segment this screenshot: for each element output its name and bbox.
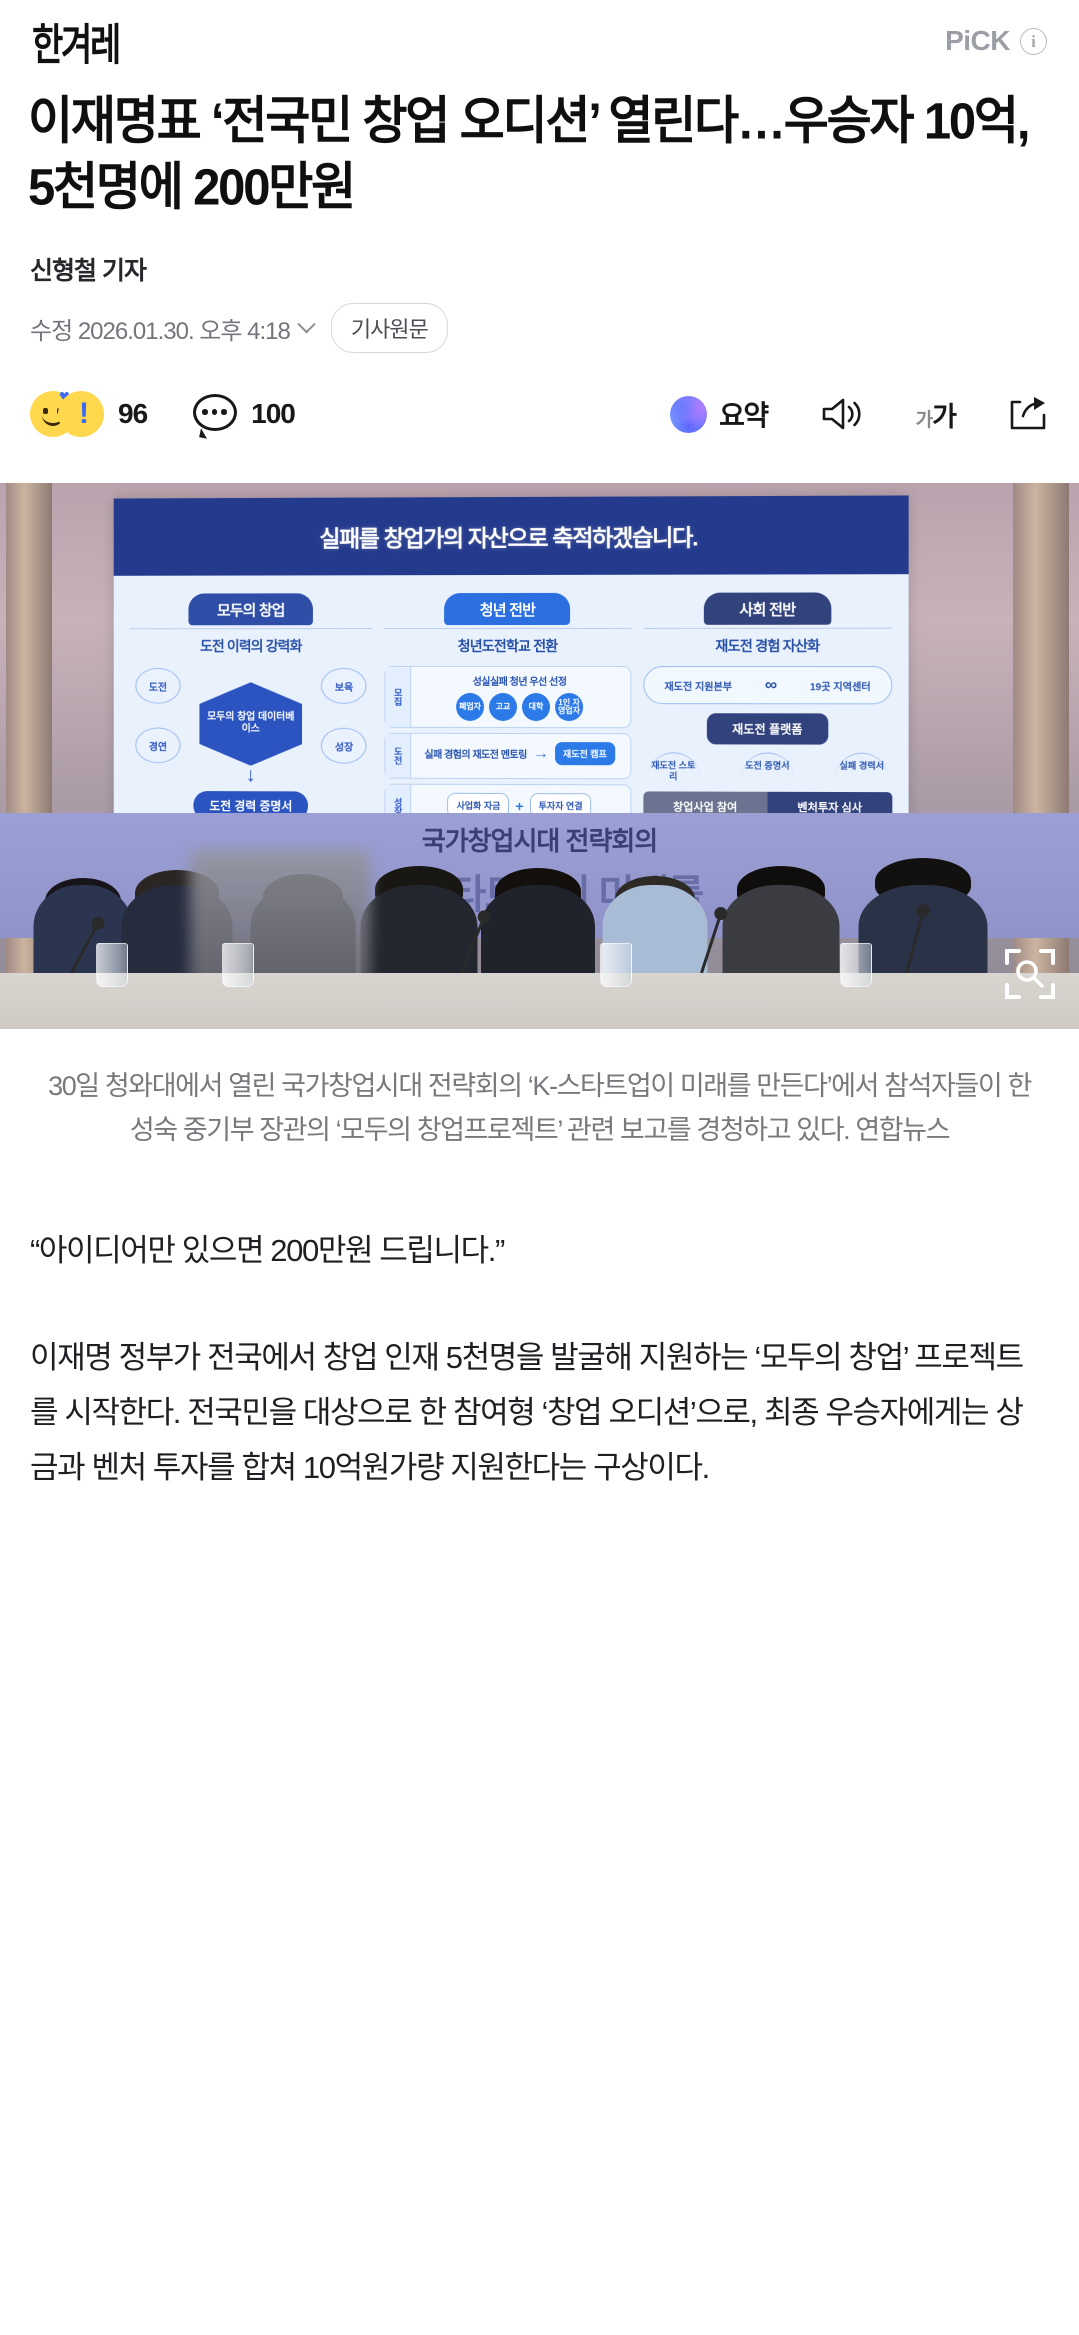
comment-count: 100 bbox=[251, 398, 295, 430]
panel-2-sub: 청년도전학교 전환 bbox=[385, 637, 631, 657]
panel-2-row-1-chip: 재도전 캠프 bbox=[555, 743, 615, 766]
info-icon[interactable]: i bbox=[1020, 28, 1047, 55]
attendee-head bbox=[880, 867, 966, 971]
panel-1-hexdiagram: 도전 보육 경연 성장 모두의 창업 데이터베이스 ↓ bbox=[129, 667, 372, 785]
pick-badge[interactable]: PiCK i bbox=[945, 25, 1047, 57]
font-size-small-label: 가 bbox=[916, 405, 931, 432]
font-size-button[interactable]: 가 가 bbox=[916, 395, 955, 434]
panel-3-cap: 사회 전반 bbox=[704, 593, 832, 625]
slide-title: 실패를 창업가의 자산으로 축적하겠습니다. bbox=[319, 519, 697, 554]
chevron-down-icon bbox=[297, 315, 315, 333]
expand-image-button[interactable] bbox=[1003, 947, 1057, 1001]
article-figure: 실패를 창업가의 자산으로 축적하겠습니다. 모두의 창업 도전 이력의 강력화… bbox=[0, 483, 1079, 1152]
expand-image-icon bbox=[1003, 947, 1057, 1001]
body-paragraph: 이재명 정부가 전국에서 창업 인재 5천명을 발굴해 지원하는 ‘모두의 창업… bbox=[30, 1330, 1049, 1496]
font-size-large-label: 가 bbox=[932, 395, 955, 434]
panel-2-rule bbox=[385, 628, 631, 630]
font-size-icon: 가 가 bbox=[916, 395, 955, 434]
attendees-row bbox=[0, 779, 1079, 1029]
panel-1-node-0: 도전 bbox=[135, 669, 180, 705]
emoji-count: 96 bbox=[118, 398, 147, 430]
panel-2-row-0-tag: 모집 bbox=[386, 668, 412, 728]
water-glass bbox=[96, 943, 128, 987]
panel-3-round-group: 재도전 지원본부 ∞ 19곳 지역센터 bbox=[643, 667, 892, 705]
press-header: 한겨레 PiCK i bbox=[0, 0, 1079, 70]
panel-1-node-3: 성장 bbox=[321, 729, 367, 765]
panel-2-circle-2: 대학 bbox=[522, 694, 550, 722]
infinity-icon: ∞ bbox=[765, 676, 777, 696]
article-page: 한겨레 PiCK i 이재명표 ‘전국민 창업 오디션’ 열린다…우승자 10억… bbox=[0, 0, 1079, 1496]
summary-label: 요약 bbox=[719, 394, 768, 434]
panel-2-cap: 청년 전반 bbox=[445, 593, 571, 625]
panel-2-row-0-circles: 폐업자 고교 대학 1인 자영업자 bbox=[416, 694, 624, 722]
emoji-reaction-button[interactable]: ♥ ! 96 bbox=[30, 391, 147, 437]
panel-1-sub: 도전 이력의 강력화 bbox=[129, 637, 372, 657]
reporter-name[interactable]: 신형철 기자 bbox=[30, 251, 1049, 287]
byline-block: 신형철 기자 수정 2026.01.30. 오후 4:18 기사원문 bbox=[0, 213, 1079, 353]
panel-2-row-0-text: 성실실패 청년 우선 선정 bbox=[416, 674, 624, 689]
press-logo-hankyoreh[interactable]: 한겨레 bbox=[32, 9, 119, 73]
panel-2-arrow-right-icon: → bbox=[533, 745, 549, 763]
emoji-stack: ♥ ! bbox=[30, 391, 104, 437]
speaker-icon bbox=[820, 396, 864, 432]
panel-2-row-1: 도전 실패 경험의 재도전 멘토링 → 재도전 캠프 bbox=[385, 734, 631, 781]
article-body: “아이디어만 있으면 200만원 드립니다.” 이재명 정부가 전국에서 창업 … bbox=[0, 1153, 1079, 1496]
tts-listen-button[interactable] bbox=[820, 396, 864, 432]
timestamp-toggle[interactable]: 수정 2026.01.30. 오후 4:18 bbox=[30, 311, 313, 346]
panel-3-rule bbox=[643, 628, 892, 630]
body-paragraph: “아이디어만 있으면 200만원 드립니다.” bbox=[30, 1223, 1049, 1278]
attendee-head bbox=[742, 875, 820, 971]
article-headline: 이재명표 ‘전국민 창업 오디션’ 열린다…우승자 10억, 5천명에 200만… bbox=[0, 70, 1079, 221]
timestamp-text: 수정 2026.01.30. 오후 4:18 bbox=[30, 311, 290, 346]
panel-3-sub: 재도전 경험 자산화 bbox=[643, 637, 892, 657]
meta-row: 수정 2026.01.30. 오후 4:18 기사원문 bbox=[30, 303, 1049, 353]
panel-2-row-1-text: 실패 경험의 재도전 멘토링 bbox=[424, 747, 526, 762]
ai-sparkle-icon bbox=[670, 396, 707, 433]
original-article-button[interactable]: 기사원문 bbox=[331, 303, 448, 353]
water-glass bbox=[600, 943, 632, 987]
attendee-head bbox=[500, 877, 576, 971]
reaction-group: ♥ ! 96 100 bbox=[30, 391, 295, 437]
panel-1-rule bbox=[129, 629, 372, 631]
panel-2-circle-1: 고교 bbox=[489, 694, 517, 722]
share-button[interactable] bbox=[1007, 395, 1049, 433]
panel-3-round-0: 재도전 지원본부 bbox=[664, 678, 732, 693]
panel-1-hex-label: 모두의 창업 데이터베이스 bbox=[199, 683, 302, 767]
panel-1-cap: 모두의 창업 bbox=[189, 594, 313, 626]
comment-bubble-icon bbox=[193, 394, 237, 434]
panel-3-dark-pill: 재도전 플랫폼 bbox=[707, 714, 828, 745]
panel-2-circle-0: 폐업자 bbox=[456, 694, 484, 722]
tool-group: 요약 가 가 bbox=[670, 394, 1049, 434]
panel-2-circle-3: 1인 자영업자 bbox=[555, 694, 583, 722]
ai-summary-button[interactable]: 요약 bbox=[670, 394, 768, 434]
photo-caption: 30일 청와대에서 열린 국가창업시대 전략회의 ‘K-스타트업이 미래를 만든… bbox=[0, 1029, 1079, 1152]
share-icon bbox=[1007, 395, 1049, 433]
conference-table bbox=[0, 973, 1079, 1029]
water-glass bbox=[222, 943, 254, 987]
panel-1-node-2: 경연 bbox=[135, 728, 180, 764]
panel-2-row-1-flow: 실패 경험의 재도전 멘토링 → 재도전 캠프 bbox=[416, 743, 624, 766]
slide-title-bar: 실패를 창업가의 자산으로 축적하겠습니다. bbox=[114, 496, 909, 576]
panel-3-round-1: 19곳 지역센터 bbox=[810, 678, 871, 693]
comment-button[interactable]: 100 bbox=[193, 394, 295, 434]
water-glass bbox=[840, 943, 872, 987]
panel-1-node-1: 보육 bbox=[321, 669, 367, 705]
attendee-head bbox=[380, 875, 458, 971]
pick-label: PiCK bbox=[945, 25, 1010, 57]
article-photo[interactable]: 실패를 창업가의 자산으로 축적하겠습니다. 모두의 창업 도전 이력의 강력화… bbox=[0, 483, 1079, 1029]
panel-2-row-0: 모집 성실실패 청년 우선 선정 폐업자 고교 대학 1인 자영업자 bbox=[385, 667, 631, 729]
panel-2-row-1-tag: 도전 bbox=[386, 735, 412, 779]
article-toolbar: ♥ ! 96 100 요약 bbox=[0, 353, 1079, 437]
exclamation-emoji: ! bbox=[58, 391, 104, 437]
